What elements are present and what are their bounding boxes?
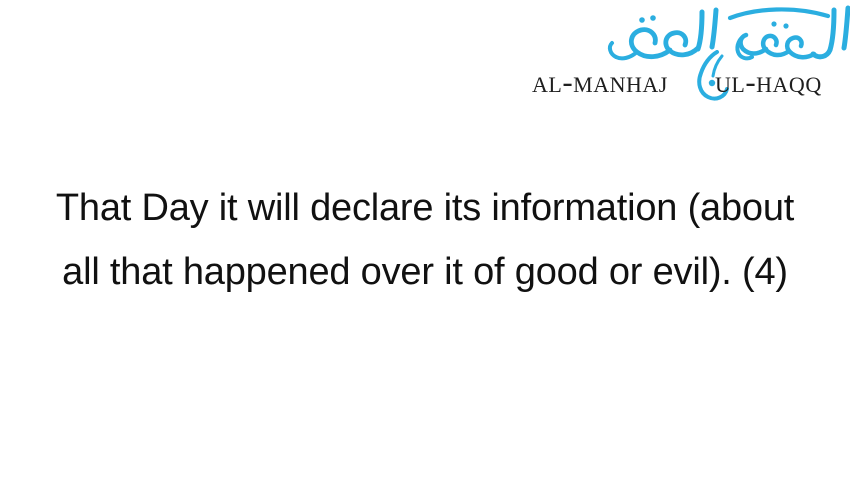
logo-wordmark-right: ul-Haqq — [715, 62, 822, 102]
slide-canvas: Al-Manhaj ul-Haqq That Day it will decla… — [0, 0, 850, 500]
logo-wordmark: Al-Manhaj ul-Haqq — [528, 62, 850, 102]
caption-line-2: all that happened over it of good or evi… — [0, 240, 850, 304]
caption-line-1: That Day it will declare its information… — [0, 176, 850, 240]
logo: Al-Manhaj ul-Haqq — [520, 0, 850, 112]
caption-block: That Day it will declare its information… — [0, 176, 850, 304]
logo-wordmark-left: Al-Manhaj — [532, 62, 668, 102]
